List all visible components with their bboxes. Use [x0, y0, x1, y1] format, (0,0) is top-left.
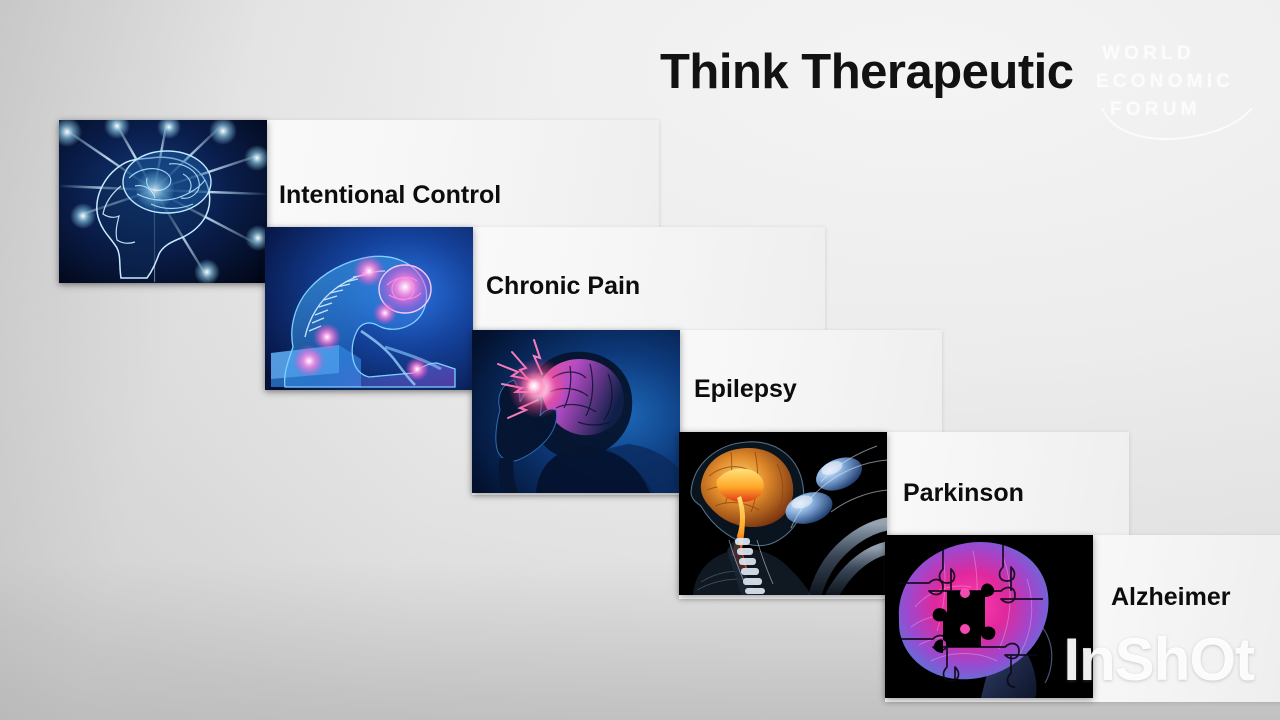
step-label-parkinson: Parkinson — [903, 479, 1024, 508]
thumbnail-head-brain-spine-cross-section-capsules[interactable] — [679, 432, 887, 595]
thumbnail-xray-seated-figure-glowing-pain-points[interactable] — [265, 227, 473, 390]
step-label-chronic-pain: Chronic Pain — [486, 272, 640, 301]
wef-swoosh-icon — [1100, 106, 1258, 146]
wef-line-world: WORLD — [1102, 44, 1195, 63]
thumbnail-brain-jigsaw-puzzle-missing-piece[interactable] — [885, 535, 1093, 698]
step-label-epilepsy: Epilepsy — [694, 375, 797, 404]
wef-line-forum: FORUM — [1110, 100, 1201, 119]
step-label-intentional-control: Intentional Control — [279, 181, 501, 210]
thumbnail-glowing-blue-brain-head-light-beams[interactable] — [59, 120, 267, 283]
slide-canvas: WORLD ECONOMIC FORUM Think Therapeutic — [0, 0, 1280, 720]
wef-line-economic: ECONOMIC — [1096, 72, 1234, 91]
thumbnail-silhouette-head-hand-temple-brain-discharge[interactable] — [472, 330, 680, 493]
page-title: Think Therapeutic — [660, 44, 1074, 100]
step-label-alzheimer: Alzheimer — [1111, 583, 1230, 612]
world-economic-forum-watermark: WORLD ECONOMIC FORUM — [1096, 40, 1264, 146]
